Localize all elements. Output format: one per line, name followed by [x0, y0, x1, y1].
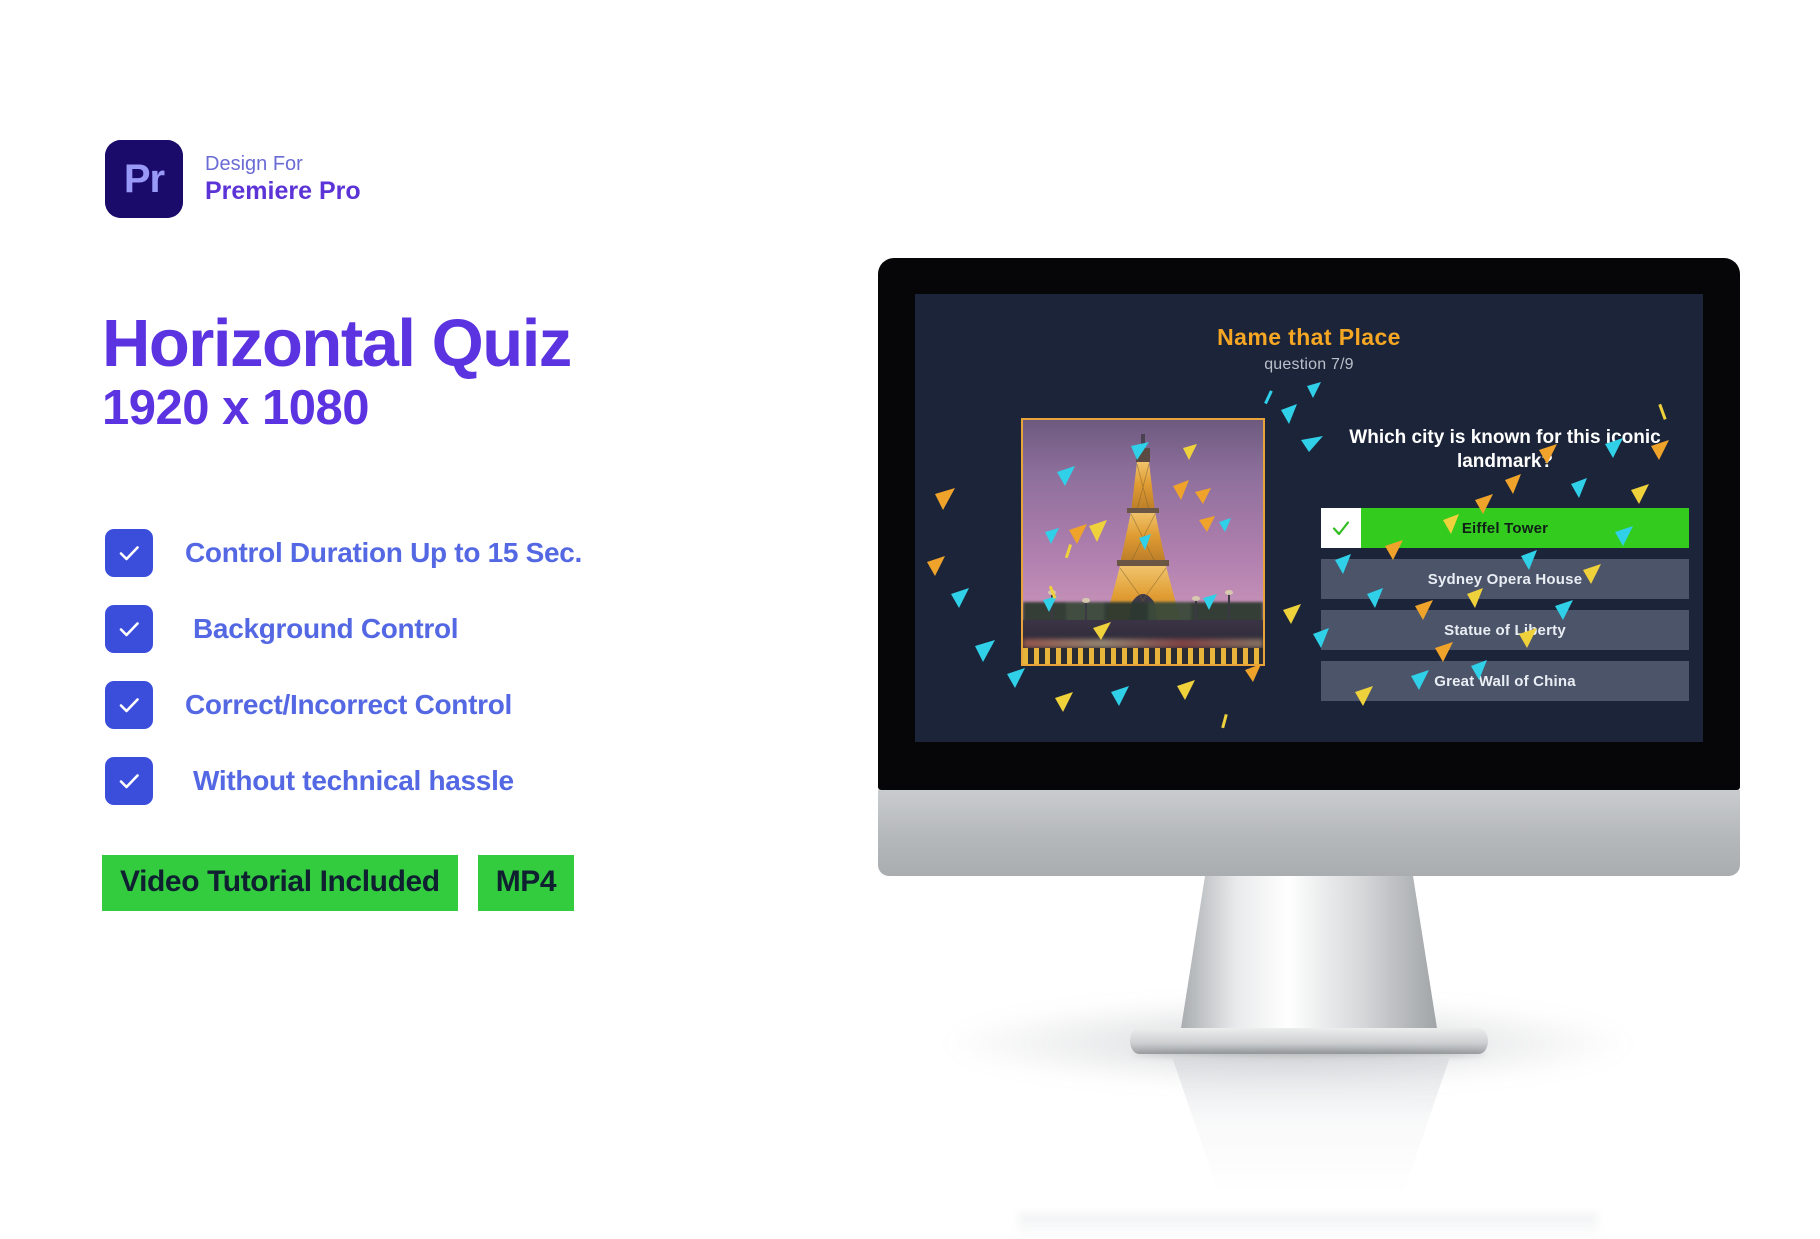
street-lamp-icon: [1051, 594, 1053, 620]
feature-list: Control Duration Up to 15 Sec. Backgroun…: [105, 525, 582, 829]
photo-road-lights: [1023, 639, 1263, 648]
brand-row: Pr Design For Premiere Pro: [105, 140, 361, 218]
check-icon: [105, 681, 153, 729]
check-icon: [105, 529, 153, 577]
feature-item: Correct/Incorrect Control: [105, 677, 582, 733]
quiz-progress: question 7/9: [915, 356, 1703, 374]
brand-main-label: Premiere Pro: [205, 176, 361, 207]
premiere-pro-icon: Pr: [105, 140, 183, 218]
quiz-option-statue-of-liberty[interactable]: Statue of Liberty: [1321, 610, 1689, 650]
left-info-panel: Pr Design For Premiere Pro Horizontal Qu…: [0, 0, 760, 1214]
quiz-title: Name that Place: [915, 324, 1703, 351]
badge-mp4: MP4: [478, 855, 575, 911]
monitor-reflection: [1146, 1058, 1476, 1193]
quiz-option-label: Eiffel Tower: [1462, 520, 1548, 537]
quiz-option-label: Sydney Opera House: [1428, 571, 1583, 588]
photo-road-stripes: [1023, 648, 1263, 664]
badge-row: Video Tutorial Included MP4: [102, 855, 574, 911]
monitor-reflection-wide: [1018, 1213, 1598, 1239]
quiz-photo: [1021, 418, 1265, 666]
feature-item: Background Control: [105, 601, 582, 657]
quiz-option-label: Great Wall of China: [1434, 673, 1576, 690]
feature-label: Background Control: [193, 613, 458, 645]
street-lamp-icon: [1228, 594, 1230, 620]
page-subtitle: 1920 x 1080: [102, 384, 369, 433]
feature-item: Control Duration Up to 15 Sec.: [105, 525, 582, 581]
street-lamp-icon: [1195, 600, 1197, 620]
quiz-options: Eiffel Tower Sydney Opera House Statue o…: [1321, 508, 1689, 712]
brand-sub-label: Design For: [205, 152, 361, 176]
feature-label: Control Duration Up to 15 Sec.: [185, 537, 582, 569]
monitor-screen: Name that Place question 7/9: [915, 294, 1703, 742]
quiz-option-eiffel-tower[interactable]: Eiffel Tower: [1321, 508, 1689, 548]
feature-item: Without technical hassle: [105, 753, 582, 809]
brand-text: Design For Premiere Pro: [205, 152, 361, 207]
monitor-stand-neck: [1179, 876, 1439, 1041]
premiere-pro-icon-label: Pr: [124, 157, 164, 202]
quiz-option-sydney-opera-house[interactable]: Sydney Opera House: [1321, 559, 1689, 599]
checkmark-icon: [1321, 508, 1361, 548]
monitor-base-shadow: [1132, 1050, 1486, 1058]
feature-label: Without technical hassle: [193, 765, 514, 797]
quiz-option-great-wall-of-china[interactable]: Great Wall of China: [1321, 661, 1689, 701]
feature-label: Correct/Incorrect Control: [185, 689, 512, 721]
monitor-chin: [878, 790, 1740, 876]
check-icon: [105, 605, 153, 653]
quiz-option-label: Statue of Liberty: [1444, 622, 1566, 639]
monitor-mockup: Name that Place question 7/9: [878, 258, 1740, 828]
check-icon: [105, 757, 153, 805]
monitor-bezel: Name that Place question 7/9: [878, 258, 1740, 790]
street-lamp-icon: [1085, 602, 1087, 620]
quiz-question: Which city is known for this iconic land…: [1315, 426, 1695, 475]
badge-video-tutorial: Video Tutorial Included: [102, 855, 458, 911]
page-title: Horizontal Quiz: [102, 310, 571, 377]
